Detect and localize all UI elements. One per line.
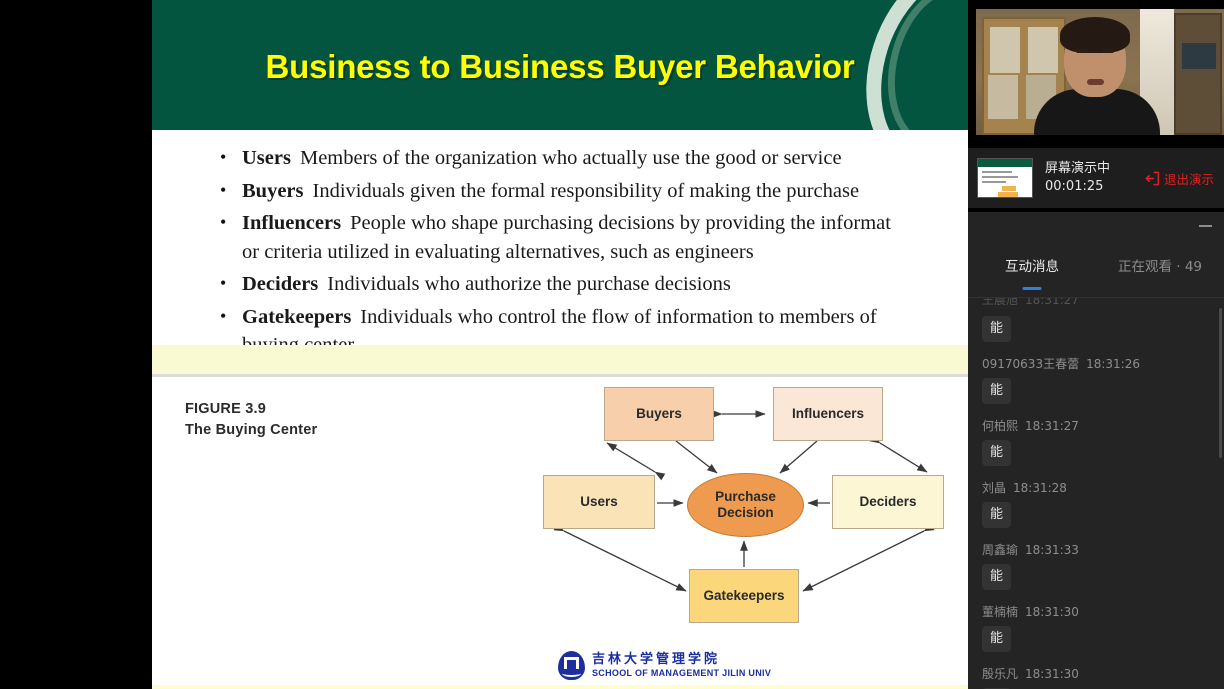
bullet-text: People who shape purchasing decisions by… <box>350 212 891 234</box>
bullet-list: UsersMembers of the organization who act… <box>220 144 954 360</box>
chat-sender-name: 09170633王春蕾 <box>982 357 1079 371</box>
university-logo: 吉林大学管理学院 SCHOOL OF MANAGEMENT JILIN UNIV <box>152 645 968 685</box>
list-item: 周鑫瑜18:31:33 能 <box>982 542 1224 590</box>
list-item: 殷乐凡18:31:30 能 <box>982 666 1224 689</box>
app-root: Business to Business Buyer Behavior User… <box>0 0 1224 689</box>
minimize-icon[interactable] <box>1199 225 1212 227</box>
share-status-text: 屏幕演示中 00:01:25 <box>1045 160 1145 196</box>
chat-sender-name: 刘晶 <box>982 481 1006 495</box>
exit-presentation-label: 退出演示 <box>1164 169 1214 188</box>
chat-message-text: 能 <box>982 564 1011 590</box>
list-item: 能 <box>982 311 1224 342</box>
chat-scrollbar[interactable] <box>1219 308 1222 458</box>
slide-header: Business to Business Buyer Behavior <box>152 0 968 130</box>
chat-sender-name: 周鑫瑜 <box>982 543 1018 557</box>
chat-timestamp: 18:31:26 <box>1086 357 1140 371</box>
diagram-node-buyers: Buyers <box>604 387 714 441</box>
chat-message-meta: 董楠楠18:31:30 <box>982 604 1224 621</box>
bullet-text: Individuals given the formal responsibil… <box>313 180 860 202</box>
webcam-person-mouth <box>1087 79 1104 85</box>
chat-timestamp: 18:31:27 <box>1025 298 1079 307</box>
chat-message-text: 能 <box>982 440 1011 466</box>
chat-sender-name: 何柏熙 <box>982 419 1018 433</box>
diagram-node-users: Users <box>543 475 655 529</box>
chat-message-meta: 09170633王春蕾18:31:26 <box>982 356 1224 373</box>
slide-body: UsersMembers of the organization who act… <box>152 130 968 345</box>
chat-message-meta: 何柏熙18:31:27 <box>982 418 1224 435</box>
share-preview-thumbnail[interactable] <box>977 158 1033 198</box>
list-item: 何柏熙18:31:27 能 <box>982 418 1224 466</box>
list-item: 董楠楠18:31:30 能 <box>982 604 1224 652</box>
logo-text-en: SCHOOL OF MANAGEMENT JILIN UNIV <box>592 667 771 679</box>
list-item: DecidersIndividuals who authorize the pu… <box>220 270 954 299</box>
chat-timestamp: 18:31:27 <box>1025 419 1079 433</box>
chat-sender-name: 王晨旭 <box>982 298 1018 307</box>
purchase-decision-line2: Decision <box>717 505 773 521</box>
bullet-term: Users <box>242 147 291 169</box>
list-item: UsersMembers of the organization who act… <box>220 144 954 173</box>
jilin-university-crest-icon <box>558 651 585 680</box>
chat-message-list[interactable]: 王晨旭18:31:27 能 09170633王春蕾18:31:26 能 何柏熙1… <box>968 298 1224 689</box>
bullet-text: Individuals who authorize the purchase d… <box>327 273 731 295</box>
share-timer: 00:01:25 <box>1045 178 1145 196</box>
chat-tabs: 互动消息 正在观看 · 49 <box>968 254 1224 290</box>
chat-message-text: 能 <box>982 316 1011 342</box>
chat-message-text: 能 <box>982 378 1011 404</box>
chat-message-meta: 殷乐凡18:31:30 <box>982 666 1224 683</box>
bullet-term: Deciders <box>242 273 318 295</box>
bullet-text-cont: or criteria utilized in evaluating alter… <box>242 238 954 267</box>
exit-arrow-icon <box>1145 171 1160 186</box>
chat-timestamp: 18:31:28 <box>1013 481 1067 495</box>
left-letterbox <box>0 0 152 689</box>
list-item: 刘晶18:31:28 能 <box>982 480 1224 528</box>
shared-slide: Business to Business Buyer Behavior User… <box>152 0 968 689</box>
buying-center-diagram: Buyers Influencers Users Deciders Gateke… <box>152 377 968 653</box>
diagram-node-influencers: Influencers <box>773 387 883 441</box>
screen-share-status-bar: 屏幕演示中 00:01:25 退出演示 <box>968 148 1224 208</box>
right-panel: 屏幕演示中 00:01:25 退出演示 互动消息 正在观看 · 49 <box>968 0 1224 689</box>
bullet-text: Members of the organization who actually… <box>300 147 842 169</box>
chat-message-text: 能 <box>982 502 1011 528</box>
logo-text-cn: 吉林大学管理学院 <box>592 652 771 667</box>
diagram-node-purchase-decision: Purchase Decision <box>687 473 804 537</box>
chat-sender-name: 殷乐凡 <box>982 667 1018 681</box>
webcam-cabinet-right <box>1174 13 1222 135</box>
exit-presentation-button[interactable]: 退出演示 <box>1145 169 1214 188</box>
bullet-term: Gatekeepers <box>242 306 351 328</box>
list-item: BuyersIndividuals given the formal respo… <box>220 177 954 206</box>
tab-viewers[interactable]: 正在观看 · 49 <box>1096 254 1224 290</box>
list-item: InfluencersPeople who shape purchasing d… <box>220 209 954 266</box>
chat-message-meta: 刘晶18:31:28 <box>982 480 1224 497</box>
bullet-term: Buyers <box>242 180 304 202</box>
presenter-webcam-video[interactable] <box>976 9 1224 135</box>
chat-message-meta: 王晨旭18:31:27 <box>982 298 1224 309</box>
webcam-person-eye-left <box>1076 49 1088 53</box>
list-item: 王晨旭18:31:27 <box>982 298 1224 309</box>
chat-panel: 互动消息 正在观看 · 49 王晨旭18:31:27 能 09170633王春蕾… <box>968 212 1224 689</box>
chat-timestamp: 18:31:30 <box>1025 667 1079 681</box>
purchase-decision-line1: Purchase <box>715 489 776 505</box>
chat-message-text: 能 <box>982 626 1011 652</box>
yellow-divider-band <box>152 345 968 374</box>
list-item: 09170633王春蕾18:31:26 能 <box>982 356 1224 404</box>
chat-sender-name: 董楠楠 <box>982 605 1018 619</box>
diagram-node-deciders: Deciders <box>832 475 944 529</box>
chat-timestamp: 18:31:33 <box>1025 543 1079 557</box>
tab-interactive-messages[interactable]: 互动消息 <box>968 254 1096 290</box>
diagram-node-gatekeepers: Gatekeepers <box>689 569 799 623</box>
bullet-term: Influencers <box>242 212 341 234</box>
webcam-shelf-a <box>988 75 1018 119</box>
chat-message-meta: 周鑫瑜18:31:33 <box>982 542 1224 559</box>
share-status-label: 屏幕演示中 <box>1045 160 1145 178</box>
chat-timestamp: 18:31:30 <box>1025 605 1079 619</box>
slide-title: Business to Business Buyer Behavior <box>152 48 968 86</box>
webcam-person-hair <box>1060 17 1130 53</box>
figure-area: FIGURE 3.9 The Buying Center <box>152 377 968 653</box>
bullet-text: Individuals who control the flow of info… <box>360 306 876 328</box>
webcam-person-eye-right <box>1102 49 1114 53</box>
